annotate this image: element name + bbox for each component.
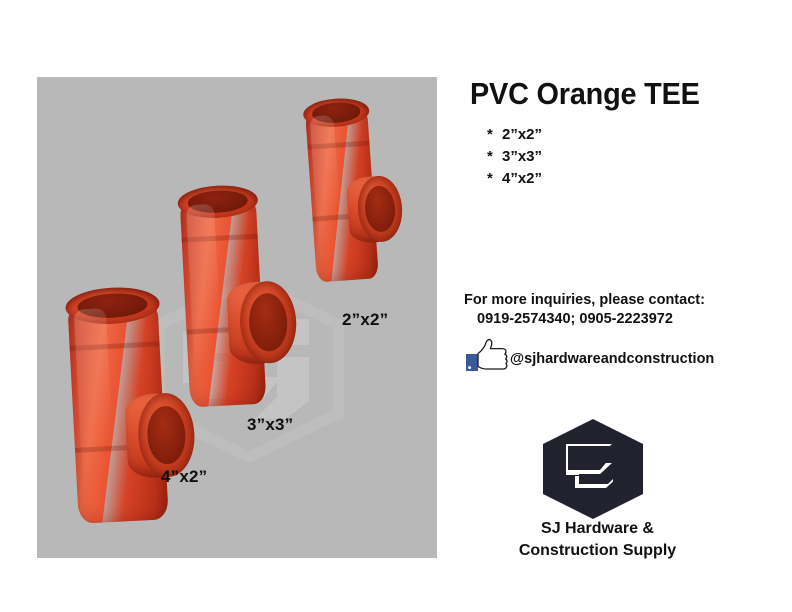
sj-hardware-logo-icon bbox=[538, 418, 648, 520]
contact-phone-numbers: 0919-2574340; 0905-2223972 bbox=[477, 311, 673, 327]
caption-3x3: 3”x3” bbox=[247, 415, 293, 435]
bullet-marker: * bbox=[487, 124, 502, 146]
size-option-label: 4”x2” bbox=[502, 170, 542, 187]
brand-name-line-1: SJ Hardware & bbox=[470, 518, 725, 540]
facebook-handle[interactable]: @sjhardwareandconstruction bbox=[510, 351, 714, 367]
size-option-item: *4”x2” bbox=[487, 168, 542, 190]
bullet-marker: * bbox=[487, 146, 502, 168]
caption-4x2: 4”x2” bbox=[161, 467, 207, 487]
size-option-list: *2”x2” *3”x3” *4”x2” bbox=[487, 124, 542, 190]
brand-name: SJ Hardware & Construction Supply bbox=[470, 518, 725, 562]
page-title: PVC Orange TEE bbox=[470, 76, 700, 112]
contact-prompt: For more inquiries, please contact: bbox=[464, 292, 705, 308]
bullet-marker: * bbox=[487, 168, 502, 190]
facebook-thumbs-up-icon[interactable] bbox=[464, 338, 510, 372]
brand-name-line-2: Construction Supply bbox=[470, 540, 725, 562]
pvc-tee-2x2 bbox=[288, 88, 410, 301]
size-option-item: *3”x3” bbox=[487, 146, 542, 168]
size-option-label: 3”x3” bbox=[502, 148, 542, 165]
size-option-label: 2”x2” bbox=[502, 126, 542, 143]
caption-2x2: 2”x2” bbox=[342, 310, 388, 330]
product-poster: 2”x2” 3”x3” 4”x2” PVC Orange TEE *2”x2 bbox=[0, 0, 792, 612]
pvc-tee-4x2 bbox=[48, 275, 210, 544]
size-option-item: *2”x2” bbox=[487, 124, 542, 146]
product-photo-panel: 2”x2” 3”x3” 4”x2” bbox=[37, 77, 437, 558]
